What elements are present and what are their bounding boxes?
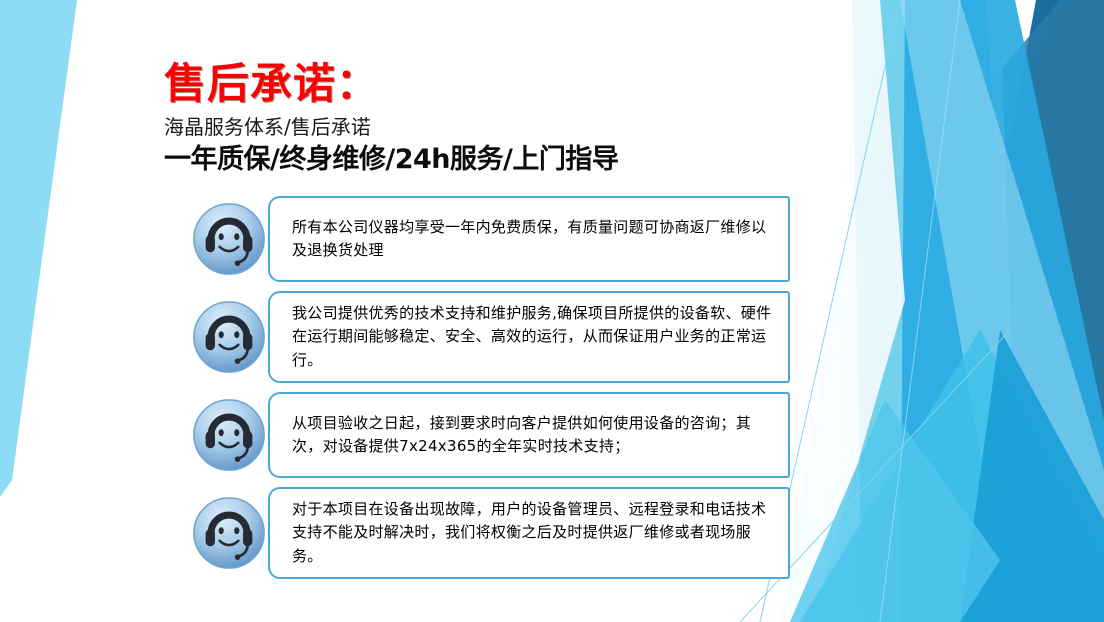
list-item-text: 所有本公司仪器均享受一年内免费质保，有质量问题可协商返厂维修以及退换货处理 xyxy=(270,216,788,263)
list-item-text: 我公司提供优秀的技术支持和维护服务,确保项目所提供的设备软、硬件在运行期间能够稳… xyxy=(270,302,788,372)
list-item: 对于本项目在设备出现故障，用户的设备管理员、远程登录和电话技术支持不能及时解决时… xyxy=(190,487,790,579)
bg-bottom-tail xyxy=(790,400,1000,622)
bg-left-wedge xyxy=(0,0,77,497)
bg-white-sliver xyxy=(780,0,905,622)
slide-header: 售后承诺： 海晶服务体系/售后承诺 一年质保/终身维修/24h服务/上门指导 xyxy=(164,62,784,175)
list-item: 所有本公司仪器均享受一年内免费质保，有质量问题可协商返厂维修以及退换货处理 xyxy=(190,196,790,282)
slide-canvas: 售后承诺： 海晶服务体系/售后承诺 一年质保/终身维修/24h服务/上门指导 所… xyxy=(0,0,1104,622)
headset-smiley-icon xyxy=(190,494,268,572)
slogan: 一年质保/终身维修/24h服务/上门指导 xyxy=(164,145,784,175)
headset-smiley-icon xyxy=(190,200,268,278)
bg-right-navy-wedge xyxy=(965,0,1104,470)
bg-pale-kite xyxy=(780,0,1015,622)
list-item: 我公司提供优秀的技术支持和维护服务,确保项目所提供的设备软、硬件在运行期间能够稳… xyxy=(190,291,790,383)
list-item-box: 所有本公司仪器均享受一年内免费质保，有质量问题可协商返厂维修以及退换货处理 xyxy=(268,196,790,282)
commitment-list: 所有本公司仪器均享受一年内免费质保，有质量问题可协商返厂维修以及退换货处理 xyxy=(190,196,790,588)
bg-pale-diagonal xyxy=(900,0,1104,622)
bg-lower-cyan-triangle xyxy=(800,330,1104,622)
list-item: 从项目验收之日起，接到要求时向客户提供如何使用设备的咨询；其次，对设备提供7x2… xyxy=(190,392,790,478)
headset-smiley-icon xyxy=(190,298,268,376)
list-item-text: 从项目验收之日起，接到要求时向客户提供如何使用设备的咨询；其次，对设备提供7x2… xyxy=(270,412,788,459)
bg-mid-blue-wedge xyxy=(900,0,1104,622)
list-item-box: 对于本项目在设备出现故障，用户的设备管理员、远程登录和电话技术支持不能及时解决时… xyxy=(268,487,790,579)
bg-right-deep-band xyxy=(975,0,1104,622)
bg-cyan-triangle-top xyxy=(852,0,1014,622)
bg-hairline-c xyxy=(880,0,960,622)
headset-smiley-icon xyxy=(190,396,268,474)
page-title: 售后承诺： xyxy=(164,62,784,106)
list-item-text: 对于本项目在设备出现故障，用户的设备管理员、远程登录和电话技术支持不能及时解决时… xyxy=(270,498,788,568)
breadcrumb: 海晶服务体系/售后承诺 xyxy=(164,116,784,138)
list-item-box: 从项目验收之日起，接到要求时向客户提供如何使用设备的咨询；其次，对设备提供7x2… xyxy=(268,392,790,478)
bg-right-dark-slab xyxy=(958,0,1104,470)
list-item-box: 我公司提供优秀的技术支持和维护服务,确保项目所提供的设备软、硬件在运行期间能够稳… xyxy=(268,291,790,383)
bg-bottom-right-deep xyxy=(960,330,1104,622)
